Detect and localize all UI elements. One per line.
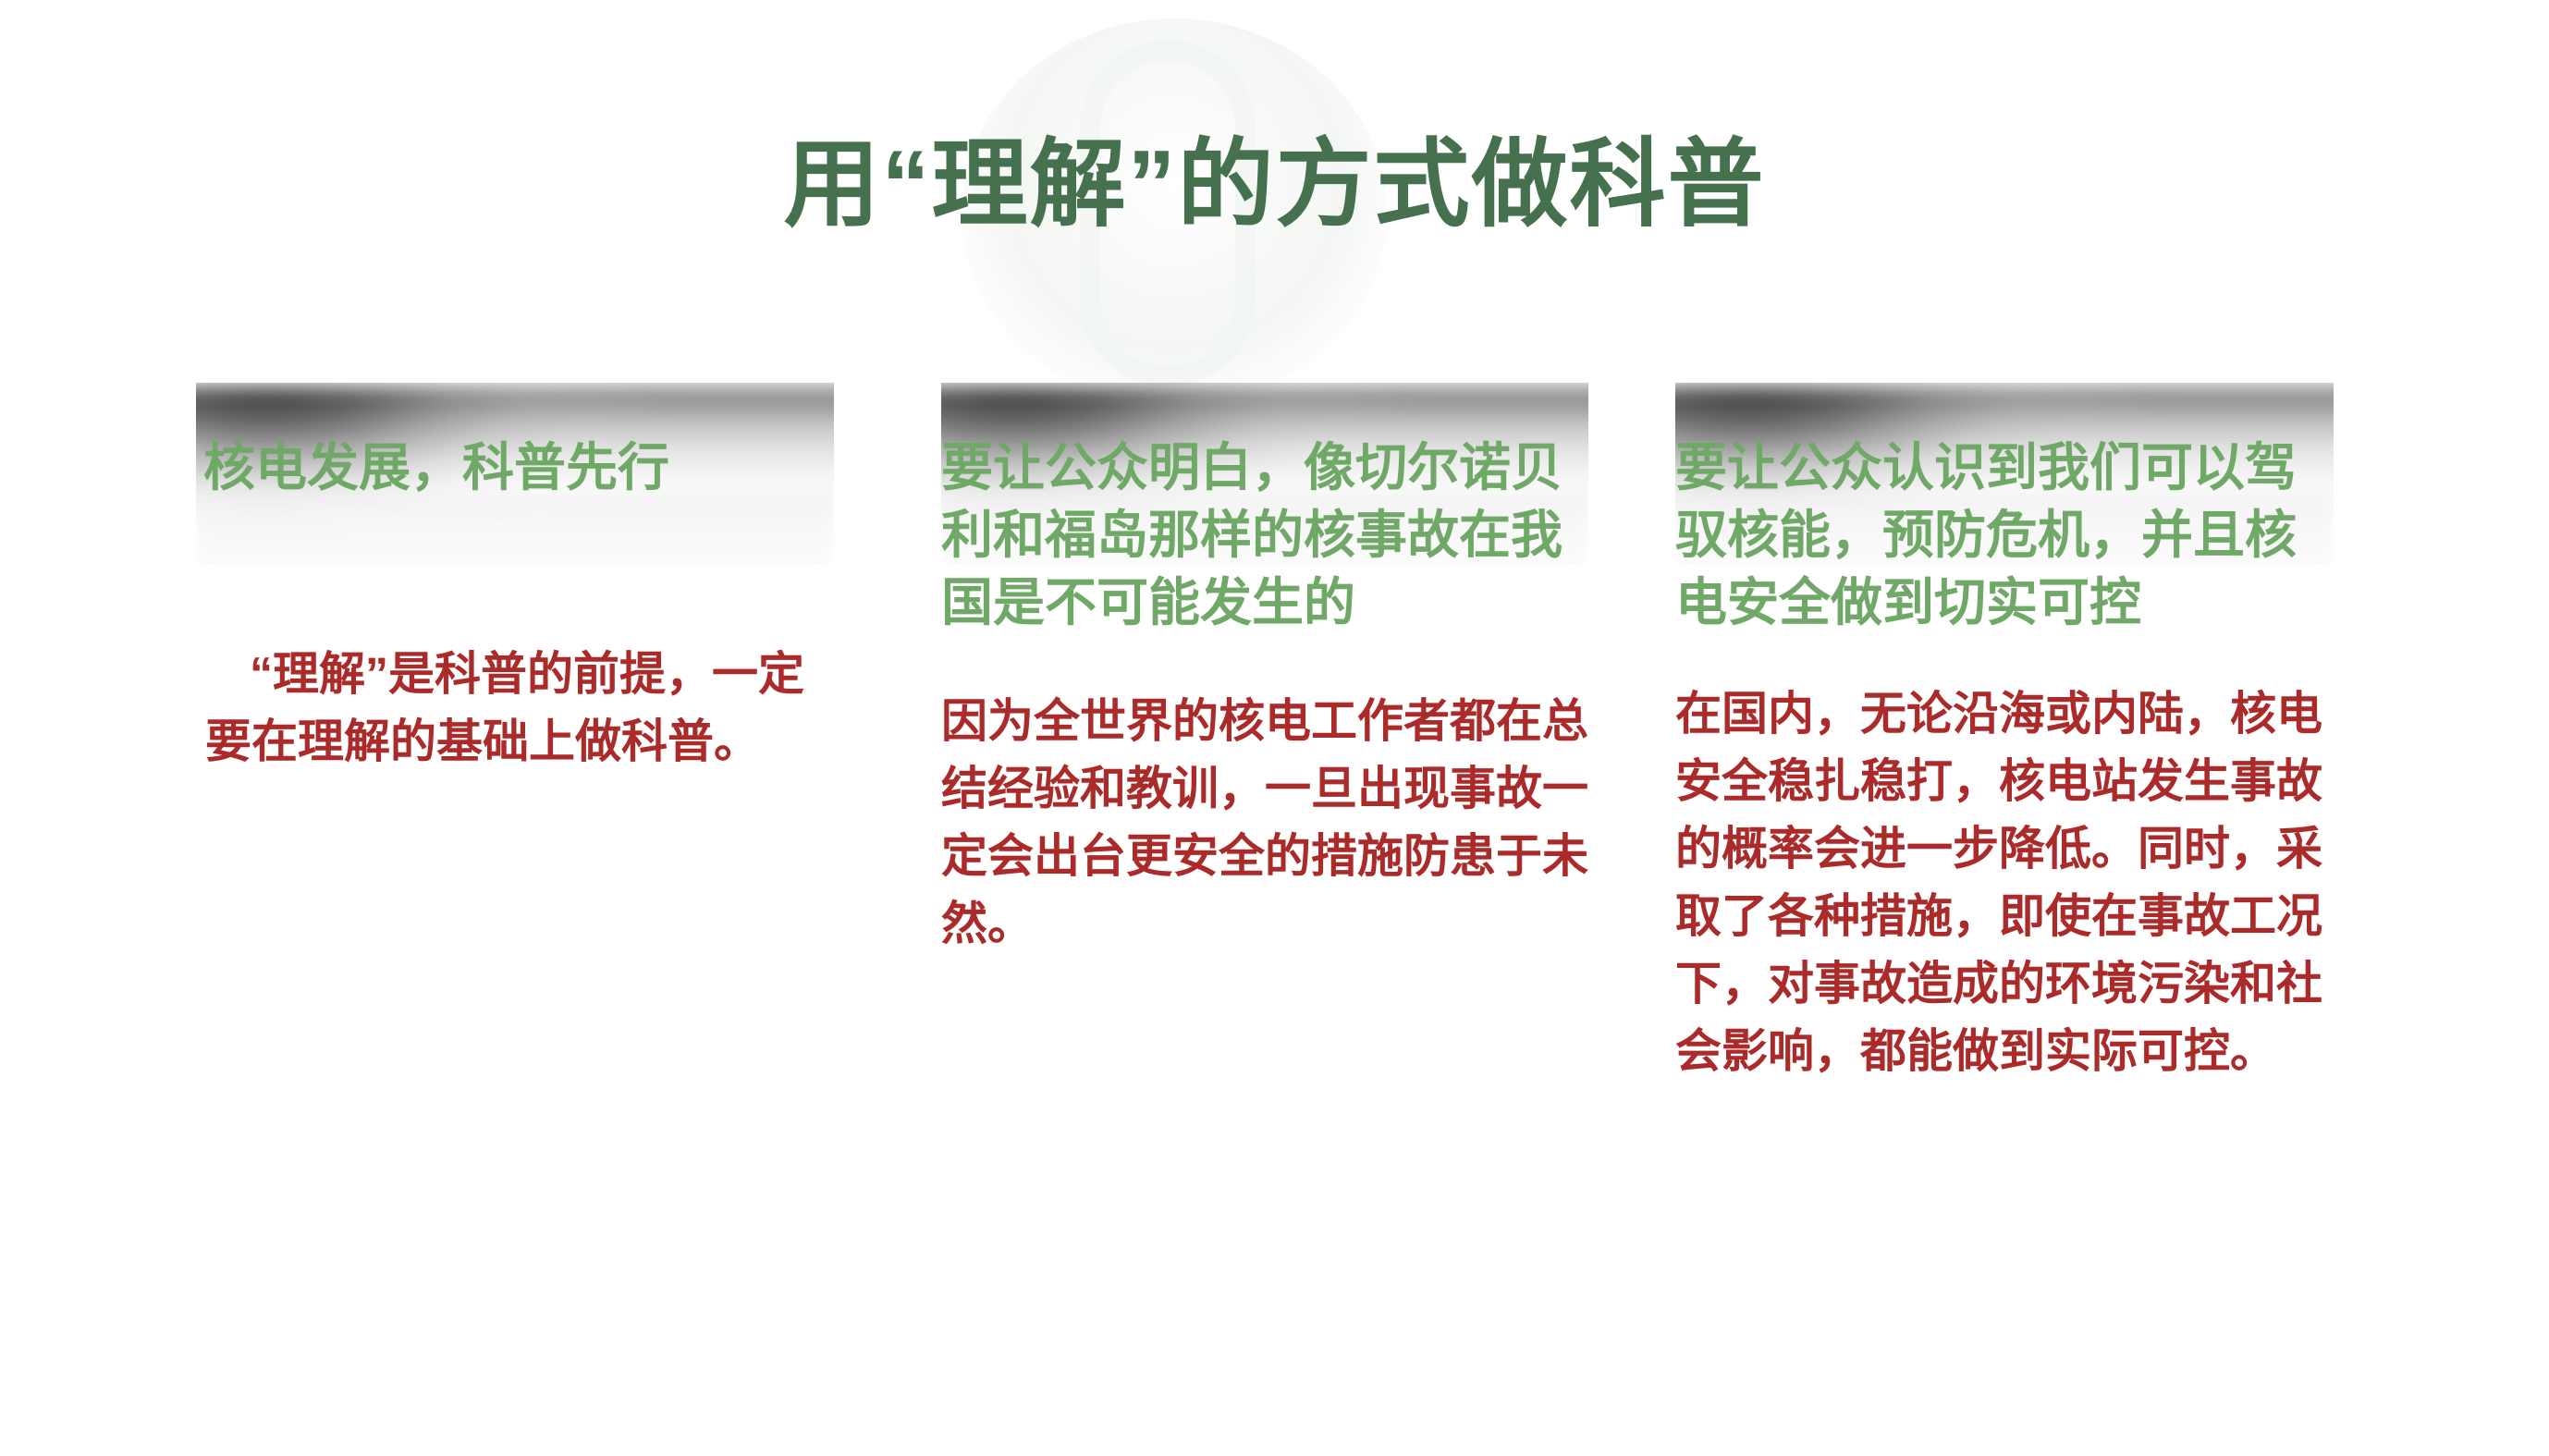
column-3-header: 要让公众认识到我们可以驾驭核能，预防危机，并且核电安全做到切实可控 (1675, 434, 2334, 636)
column-1-body: “理解”是科普的前提，一定要在理解的基础上做科普。 (196, 641, 834, 776)
column-1-header: 核电发展，科普先行 (196, 434, 834, 502)
column-2-header: 要让公众明白，像切尔诺贝利和福岛那样的核事故在我国是不可能发生的 (941, 434, 1588, 636)
slide-canvas: 用“理解”的方式做科普 核电发展，科普先行 “理解”是科普的前提，一定要在理解的… (0, 0, 2549, 1456)
content-column-3: 要让公众认识到我们可以驾驭核能，预防危机，并且核电安全做到切实可控 在国内，无论… (1675, 383, 2334, 1085)
column-3-body: 在国内，无论沿海或内陆，核电安全稳扎稳打，核电站发生事故的概率会进一步降低。同时… (1675, 680, 2334, 1085)
content-column-2: 要让公众明白，像切尔诺贝利和福岛那样的核事故在我国是不可能发生的 因为全世界的核… (941, 383, 1588, 958)
column-2-body: 因为全世界的核电工作者都在总结经验和教训，一旦出现事故一定会出台更安全的措施防患… (941, 688, 1588, 958)
shadow-fade-tail (196, 494, 834, 564)
content-column-1: 核电发展，科普先行 “理解”是科普的前提，一定要在理解的基础上做科普。 (196, 383, 834, 776)
page-title: 用“理解”的方式做科普 (0, 131, 2549, 239)
